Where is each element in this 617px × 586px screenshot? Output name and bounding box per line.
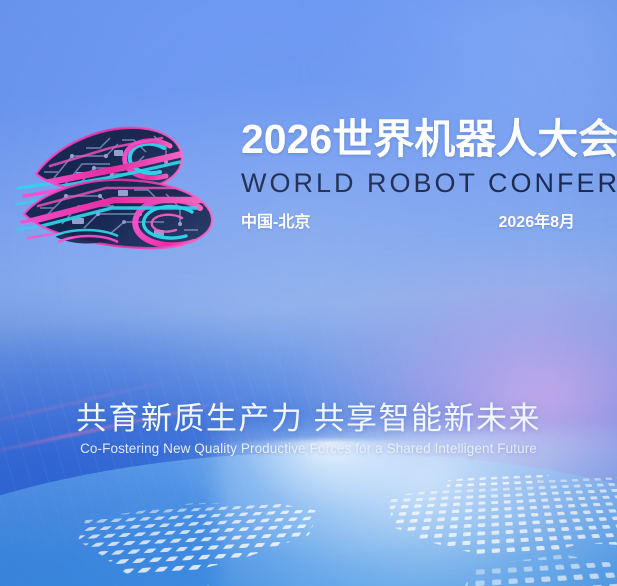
slogan-cn: 共育新质生产力 共享智能新未来: [0, 400, 617, 438]
conference-banner: 2026世界机器人大会 WORLD ROBOT CONFERENCE 中国-北京…: [0, 0, 617, 586]
globe-dotmap-wrapper: [0, 0, 617, 586]
dotted-world-map: [0, 455, 617, 586]
conference-date: 2026年8月: [499, 208, 576, 232]
headline-meta-row: 中国-北京 2026年8月: [241, 208, 575, 232]
wrc-logo-emblem: [14, 96, 232, 258]
conference-location: 中国-北京: [241, 208, 310, 232]
slogan-block: 共育新质生产力 共享智能新未来 Co-Fostering New Quality…: [0, 400, 617, 458]
headline-block: 2026世界机器人大会 WORLD ROBOT CONFERENCE 中国-北京…: [241, 113, 601, 232]
conference-title-cn: 2026世界机器人大会: [241, 113, 601, 165]
conference-title-en: WORLD ROBOT CONFERENCE: [241, 167, 601, 199]
slogan-en: Co-Fostering New Quality Productive Forc…: [0, 440, 617, 458]
